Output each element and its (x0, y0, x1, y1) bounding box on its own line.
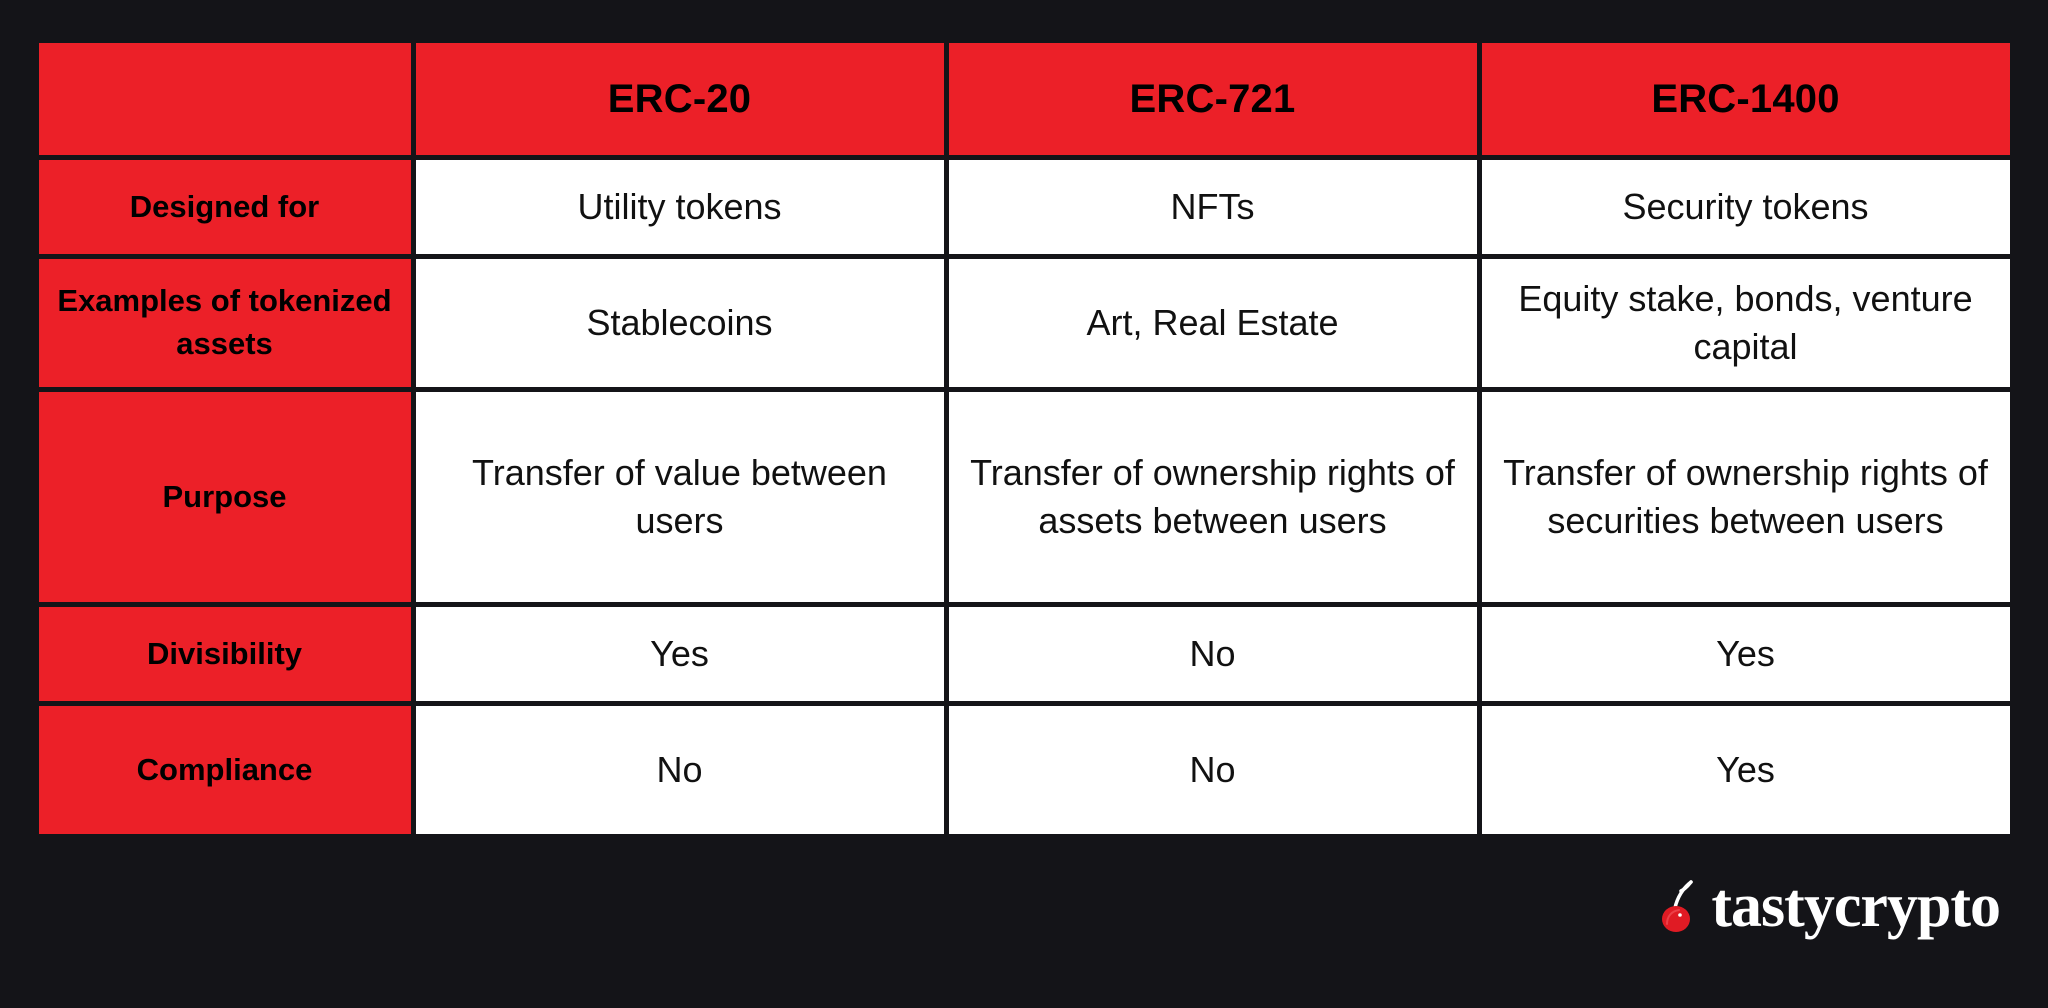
column-header-erc-1400: ERC-1400 (1482, 43, 2010, 155)
row-label-examples-of-tokenized-assets: Examples of tokenized assets (39, 259, 411, 387)
row-label-divisibility: Divisibility (39, 607, 411, 701)
table-row: Designed for Utility tokens NFTs Securit… (39, 160, 2010, 254)
cell-examples-erc-1400: Equity stake, bonds, venture capital (1482, 259, 2010, 387)
cell-divisibility-erc-721: No (949, 607, 1477, 701)
cell-divisibility-erc-1400: Yes (1482, 607, 2010, 701)
cell-designed-for-erc-20: Utility tokens (416, 160, 944, 254)
table-row: Examples of tokenized assets Stablecoins… (39, 259, 2010, 387)
column-header-erc-20: ERC-20 (416, 43, 944, 155)
cell-designed-for-erc-721: NFTs (949, 160, 1477, 254)
footer-brand-area: tastycrypto (40, 875, 2008, 937)
cell-compliance-erc-1400: Yes (1482, 706, 2010, 834)
table-row: Compliance No No Yes (39, 706, 2010, 834)
cell-designed-for-erc-1400: Security tokens (1482, 160, 2010, 254)
cell-examples-erc-721: Art, Real Estate (949, 259, 1477, 387)
cell-examples-erc-20: Stablecoins (416, 259, 944, 387)
row-label-compliance: Compliance (39, 706, 411, 834)
tastycrypto-logo: tastycrypto (1661, 875, 2000, 937)
cell-compliance-erc-20: No (416, 706, 944, 834)
table-corner-cell (39, 43, 411, 155)
table-row: Divisibility Yes No Yes (39, 607, 2010, 701)
cell-compliance-erc-721: No (949, 706, 1477, 834)
column-header-erc-721: ERC-721 (949, 43, 1477, 155)
brand-wordmark: tastycrypto (1711, 875, 2000, 937)
cherry-icon (1661, 878, 1705, 934)
row-label-designed-for: Designed for (39, 160, 411, 254)
row-label-purpose: Purpose (39, 392, 411, 602)
cell-purpose-erc-721: Transfer of ownership rights of assets b… (949, 392, 1477, 602)
cell-purpose-erc-20: Transfer of value between users (416, 392, 944, 602)
table-header-row: ERC-20 ERC-721 ERC-1400 (39, 43, 2010, 155)
erc-standards-comparison-table: ERC-20 ERC-721 ERC-1400 Designed for Uti… (34, 38, 2015, 839)
cell-purpose-erc-1400: Transfer of ownership rights of securiti… (1482, 392, 2010, 602)
table-row: Purpose Transfer of value between users … (39, 392, 2010, 602)
cell-divisibility-erc-20: Yes (416, 607, 944, 701)
